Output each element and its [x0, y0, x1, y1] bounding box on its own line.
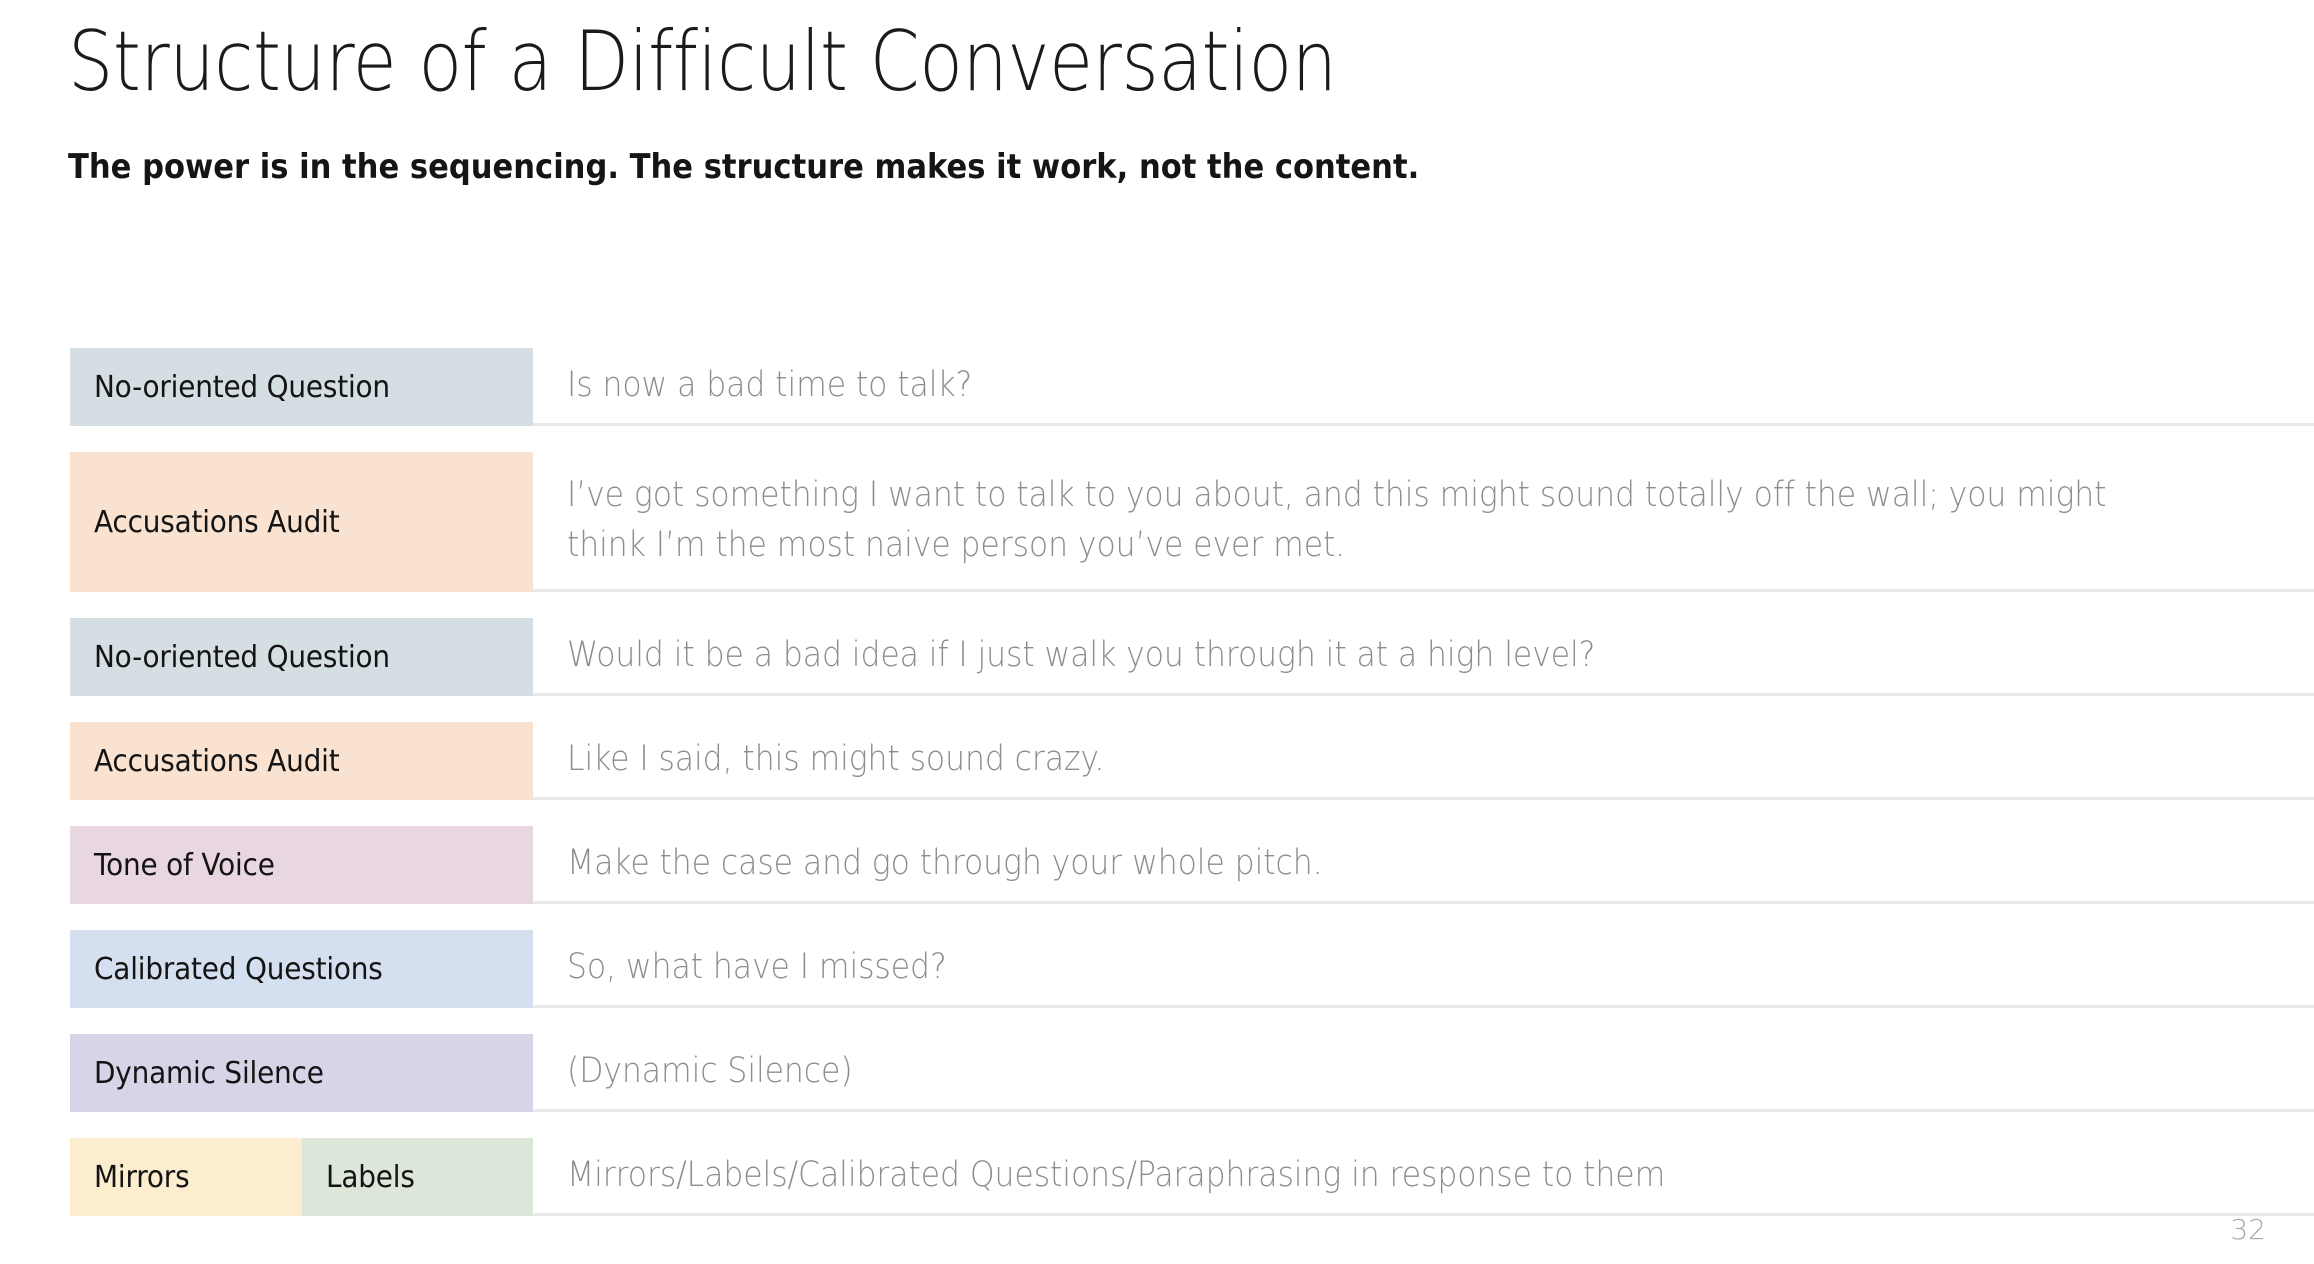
row-content-cell: I’ve got something I want to talk to you… [533, 452, 2314, 592]
row-content-cell: Is now a bad time to talk? [533, 348, 2314, 426]
tactic-chip-mirrors[interactable]: Mirrors [70, 1138, 302, 1216]
tactic-chip-label: Tone of Voice [94, 848, 275, 883]
row-content-cell: Like I said, this might sound crazy. [533, 722, 2314, 800]
row-content-cell: Make the case and go through your whole … [533, 826, 2314, 904]
table-row: Accusations Audit I’ve got something I w… [70, 452, 2314, 592]
table-row: Mirrors Labels Mirrors/Labels/Calibrated… [70, 1138, 2314, 1216]
table-row: Calibrated Questions So, what have I mis… [70, 930, 2314, 1008]
row-label-cell: Accusations Audit [70, 452, 533, 592]
row-label-cell: Dynamic Silence [70, 1034, 533, 1112]
row-content-cell: (Dynamic Silence) [533, 1034, 2314, 1112]
tactic-chip-label: Calibrated Questions [94, 952, 383, 987]
row-spacer [70, 1112, 2314, 1138]
row-spacer [70, 904, 2314, 930]
row-content-cell: So, what have I missed? [533, 930, 2314, 1008]
row-content-text: So, what have I missed? [567, 943, 947, 993]
tactic-chip-label: Accusations Audit [94, 744, 339, 779]
table-row: No-oriented Question Would it be a bad i… [70, 618, 2314, 696]
row-spacer [70, 1008, 2314, 1034]
conversation-structure-table: No-oriented Question Is now a bad time t… [70, 348, 2314, 1216]
tactic-chip-no-oriented-question[interactable]: No-oriented Question [70, 348, 533, 426]
row-label-cell: Accusations Audit [70, 722, 533, 800]
tactic-chip-accusations-audit[interactable]: Accusations Audit [70, 722, 533, 800]
row-content-cell: Mirrors/Labels/Calibrated Questions/Para… [533, 1138, 2314, 1216]
row-content-text: Mirrors/Labels/Calibrated Questions/Para… [567, 1151, 1665, 1201]
row-spacer [70, 592, 2314, 618]
table-row: No-oriented Question Is now a bad time t… [70, 348, 2314, 426]
tactic-chip-label: No-oriented Question [94, 640, 390, 675]
row-content-text: I’ve got something I want to talk to you… [567, 471, 2121, 570]
row-content-text: (Dynamic Silence) [567, 1047, 853, 1097]
tactic-chip-tone-of-voice[interactable]: Tone of Voice [70, 826, 533, 904]
tactic-chip-label: No-oriented Question [94, 370, 390, 405]
row-label-cell: Calibrated Questions [70, 930, 533, 1008]
slide-subtitle: The power is in the sequencing. The stru… [68, 146, 2035, 189]
table-row: Tone of Voice Make the case and go throu… [70, 826, 2314, 904]
tactic-chip-calibrated-questions[interactable]: Calibrated Questions [70, 930, 533, 1008]
slide-header: Structure of a Difficult Conversation Th… [68, 18, 2254, 188]
row-content-text: Would it be a bad idea if I just walk yo… [567, 631, 1595, 681]
row-label-cell: No-oriented Question [70, 348, 533, 426]
row-label-cell: Tone of Voice [70, 826, 533, 904]
row-content-text: Is now a bad time to talk? [567, 361, 972, 411]
tactic-chip-label: Accusations Audit [94, 505, 339, 540]
tactic-chip-dynamic-silence[interactable]: Dynamic Silence [70, 1034, 533, 1112]
table-row: Accusations Audit Like I said, this migh… [70, 722, 2314, 800]
row-content-text: Like I said, this might sound crazy. [567, 735, 1104, 785]
page-title: Structure of a Difficult Conversation [68, 18, 1948, 106]
row-spacer [70, 800, 2314, 826]
row-content-cell: Would it be a bad idea if I just walk yo… [533, 618, 2314, 696]
slide: Structure of a Difficult Conversation Th… [0, 0, 2314, 1264]
row-label-cell: Mirrors Labels [70, 1138, 533, 1216]
tactic-chip-labels[interactable]: Labels [302, 1138, 534, 1216]
tactic-chip-accusations-audit[interactable]: Accusations Audit [70, 452, 533, 592]
tactic-chip-label: Mirrors [94, 1160, 189, 1195]
row-content-text: Make the case and go through your whole … [567, 839, 1323, 889]
tactic-chip-no-oriented-question[interactable]: No-oriented Question [70, 618, 533, 696]
row-label-cell: No-oriented Question [70, 618, 533, 696]
table-row: Dynamic Silence (Dynamic Silence) [70, 1034, 2314, 1112]
tactic-chip-label: Dynamic Silence [94, 1056, 324, 1091]
tactic-chip-label: Labels [326, 1160, 415, 1195]
row-spacer [70, 696, 2314, 722]
row-spacer [70, 426, 2314, 452]
page-number: 32 [2230, 1213, 2266, 1246]
